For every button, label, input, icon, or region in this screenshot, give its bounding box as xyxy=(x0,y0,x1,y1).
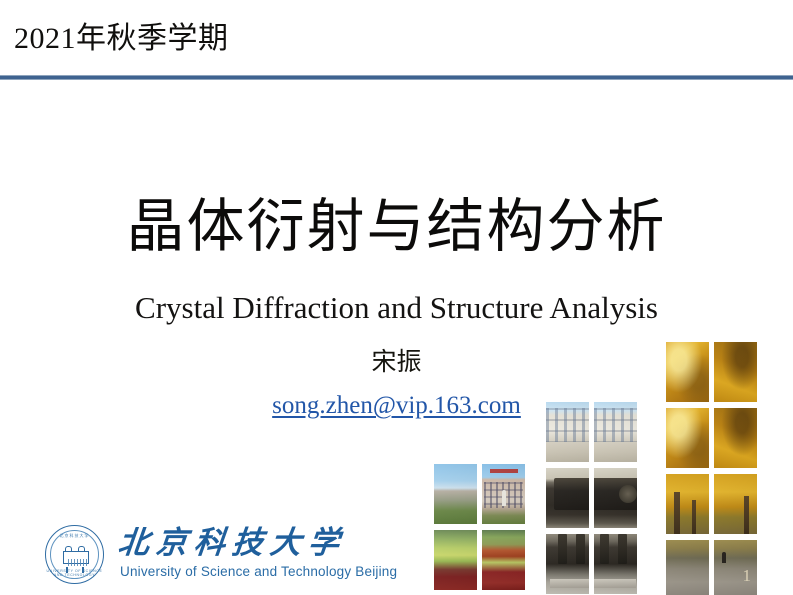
collage-group-bronze-ding-monument xyxy=(546,402,637,590)
ding-medallion xyxy=(619,485,637,503)
ding-leg-2 xyxy=(576,534,585,564)
ding-leg-4 xyxy=(618,534,627,564)
ding-pedestal-left xyxy=(550,579,589,588)
ustb-seal-emblem: 北京科技大学 UNIVERSITY OF SCIENCE AND TECHNOL… xyxy=(45,525,104,584)
collage-tile-building-facade-left xyxy=(546,402,589,462)
page-subtitle-english: Crystal Diffraction and Structure Analys… xyxy=(0,289,793,327)
ding-vessel-body-right xyxy=(594,478,637,510)
slide-canvas: 2021年秋季学期 晶体衍射与结构分析 Crystal Diffraction … xyxy=(0,0,793,595)
collage-tile-canopy-1 xyxy=(666,342,709,402)
collage-tile-ding-legs-right xyxy=(594,534,637,594)
collage-tile-canopy-2 xyxy=(714,342,757,402)
collage-group-ginkgo-avenue: 1 xyxy=(666,342,757,590)
seal-arc-bottom-text: UNIVERSITY OF SCIENCE AND TECHNOLOGY xyxy=(46,569,103,577)
collage-tile-lawn-and-flowerbed xyxy=(434,530,477,590)
ginkgo-trunk-1 xyxy=(674,492,680,534)
collage-tile-trees-and-sky xyxy=(434,464,477,524)
slide-page-number: 1 xyxy=(743,567,752,584)
collage-tile-building-facade-right xyxy=(594,402,637,462)
ding-vessel-body-left xyxy=(554,478,589,510)
slide-header-term: 2021年秋季学期 xyxy=(14,22,229,56)
seal-ding-icon xyxy=(61,546,89,568)
pedestrian-figure xyxy=(722,552,726,563)
ding-pedestal-right xyxy=(594,579,636,588)
collage-tile-canopy-3 xyxy=(666,408,709,468)
ustb-name-english: University of Science and Technology Bei… xyxy=(120,564,397,580)
ustb-logo: 北京科技大学 UNIVERSITY OF SCIENCE AND TECHNOL… xyxy=(45,523,390,585)
facade-windows-left xyxy=(546,408,589,442)
facade-windows-right xyxy=(594,408,637,442)
building-windows xyxy=(484,482,523,508)
seal-ding-body xyxy=(63,551,89,564)
ginkgo-trunk-3 xyxy=(744,496,749,534)
header-divider-rule xyxy=(0,75,793,80)
collage-tile-trees-left xyxy=(666,474,709,534)
ding-leg-1 xyxy=(558,534,567,564)
building-banner xyxy=(490,469,518,473)
collage-tile-main-building-with-statue xyxy=(482,464,525,524)
seal-arc-top-text: 北京科技大学 xyxy=(46,533,103,539)
collage-tile-ding-vessel-left xyxy=(546,468,589,528)
ginkgo-trunk-2 xyxy=(692,500,696,534)
collage-tile-ding-legs-left xyxy=(546,534,589,594)
collage-tile-trees-right xyxy=(714,474,757,534)
ding-leg-3 xyxy=(600,534,609,564)
collage-tile-red-flowerbed xyxy=(482,530,525,590)
ustb-name-chinese: 北京科技大学 xyxy=(116,526,348,560)
collage-tile-ding-vessel-right xyxy=(594,468,637,528)
campus-statue xyxy=(502,490,506,506)
collage-group-campus-main-building xyxy=(434,464,525,590)
collage-tile-canopy-4 xyxy=(714,408,757,468)
page-title-chinese: 晶体衍射与结构分析 xyxy=(0,194,793,260)
campus-photo-collage: 1 xyxy=(430,338,793,595)
seal-ding-hatch xyxy=(68,559,88,566)
collage-tile-path-left xyxy=(666,540,709,595)
